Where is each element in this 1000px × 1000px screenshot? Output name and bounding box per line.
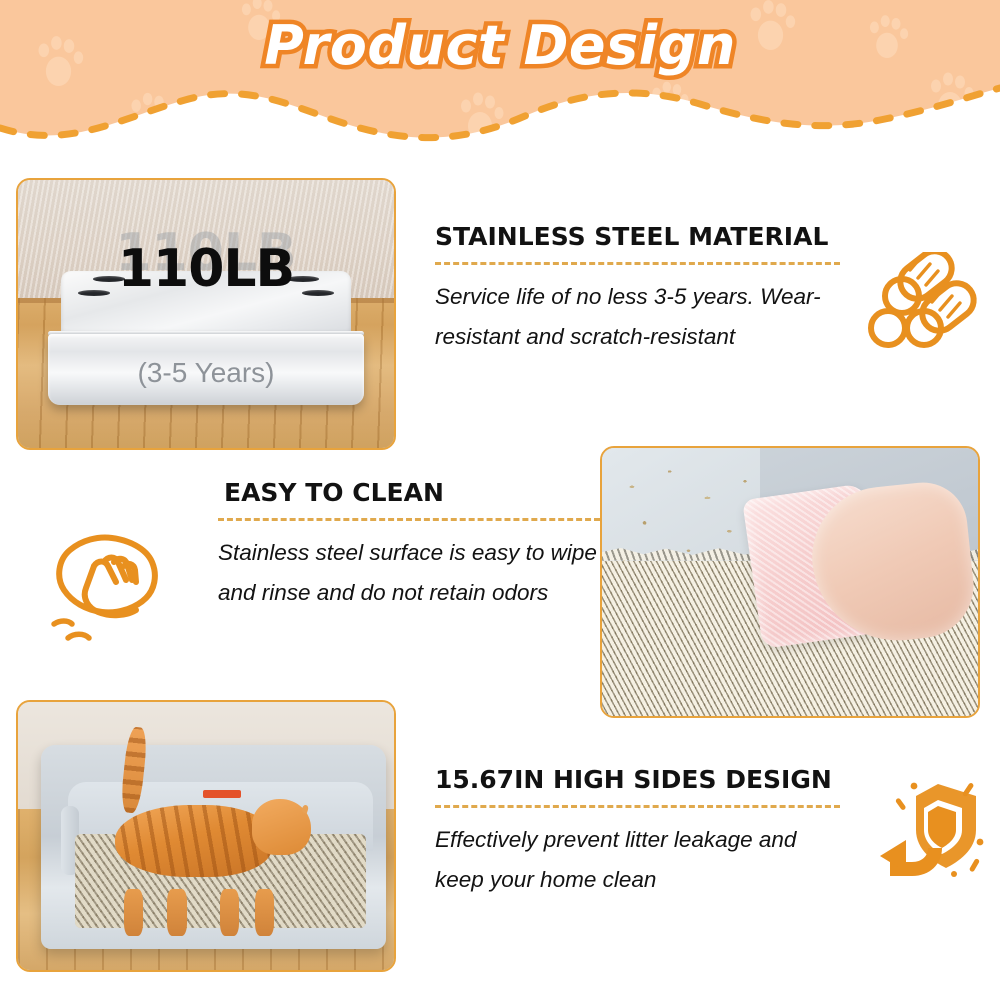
- service-life-label: (3-5 Years): [18, 357, 394, 389]
- wiping-litter-box-photo: [600, 446, 980, 718]
- cat-leg: [255, 889, 275, 936]
- feature-block-stainless-steel-material: STAINLESS STEEL MATERIAL Service life of…: [435, 222, 840, 357]
- cat-leg: [124, 889, 144, 936]
- feature-title: 15.67IN HIGH SIDES DESIGN: [435, 765, 840, 794]
- feature-title: EASY TO CLEAN: [224, 478, 600, 507]
- feature-title: STAINLESS STEEL MATERIAL: [435, 222, 840, 251]
- orange-tabby-cat: [93, 774, 311, 913]
- shield-deflect-arrow-icon: [876, 772, 992, 888]
- feature-block-easy-to-clean: EASY TO CLEAN Stainless steel surface is…: [218, 478, 600, 613]
- feature-description: Effectively prevent litter leakage and k…: [435, 820, 840, 900]
- cat-ear: [301, 804, 309, 814]
- steel-litter-box-photo: 110LB 110LB (3-5 Years): [16, 178, 396, 450]
- cat-in-litter-box-photo: [16, 700, 396, 972]
- page-header: Product Design: [0, 0, 1000, 150]
- feature-description: Stainless steel surface is easy to wipe …: [218, 533, 600, 613]
- feature-block-high-sides-design: 15.67IN HIGH SIDES DESIGN Effectively pr…: [435, 765, 840, 900]
- dashed-divider: [435, 805, 840, 808]
- stacked-logs-icon: [866, 252, 984, 354]
- feature-description: Service life of no less 3-5 years. Wear-…: [435, 277, 840, 357]
- dashed-divider: [435, 262, 840, 265]
- photo-content: [18, 702, 394, 970]
- cat-leg: [167, 889, 187, 936]
- photo-content: [602, 448, 978, 716]
- cat-leg: [220, 889, 240, 936]
- photo-content: 110LB 110LB (3-5 Years): [18, 180, 394, 448]
- cat-head: [252, 799, 311, 855]
- weight-capacity-label: 110LB: [18, 239, 394, 299]
- cat-body: [115, 805, 272, 877]
- page-title: Product Design: [0, 14, 1000, 78]
- product-design-infographic: Product Design 110LB 110LB: [0, 0, 1000, 1000]
- hand-wiping-cloth-icon: [42, 532, 176, 650]
- dashed-divider: [218, 518, 600, 521]
